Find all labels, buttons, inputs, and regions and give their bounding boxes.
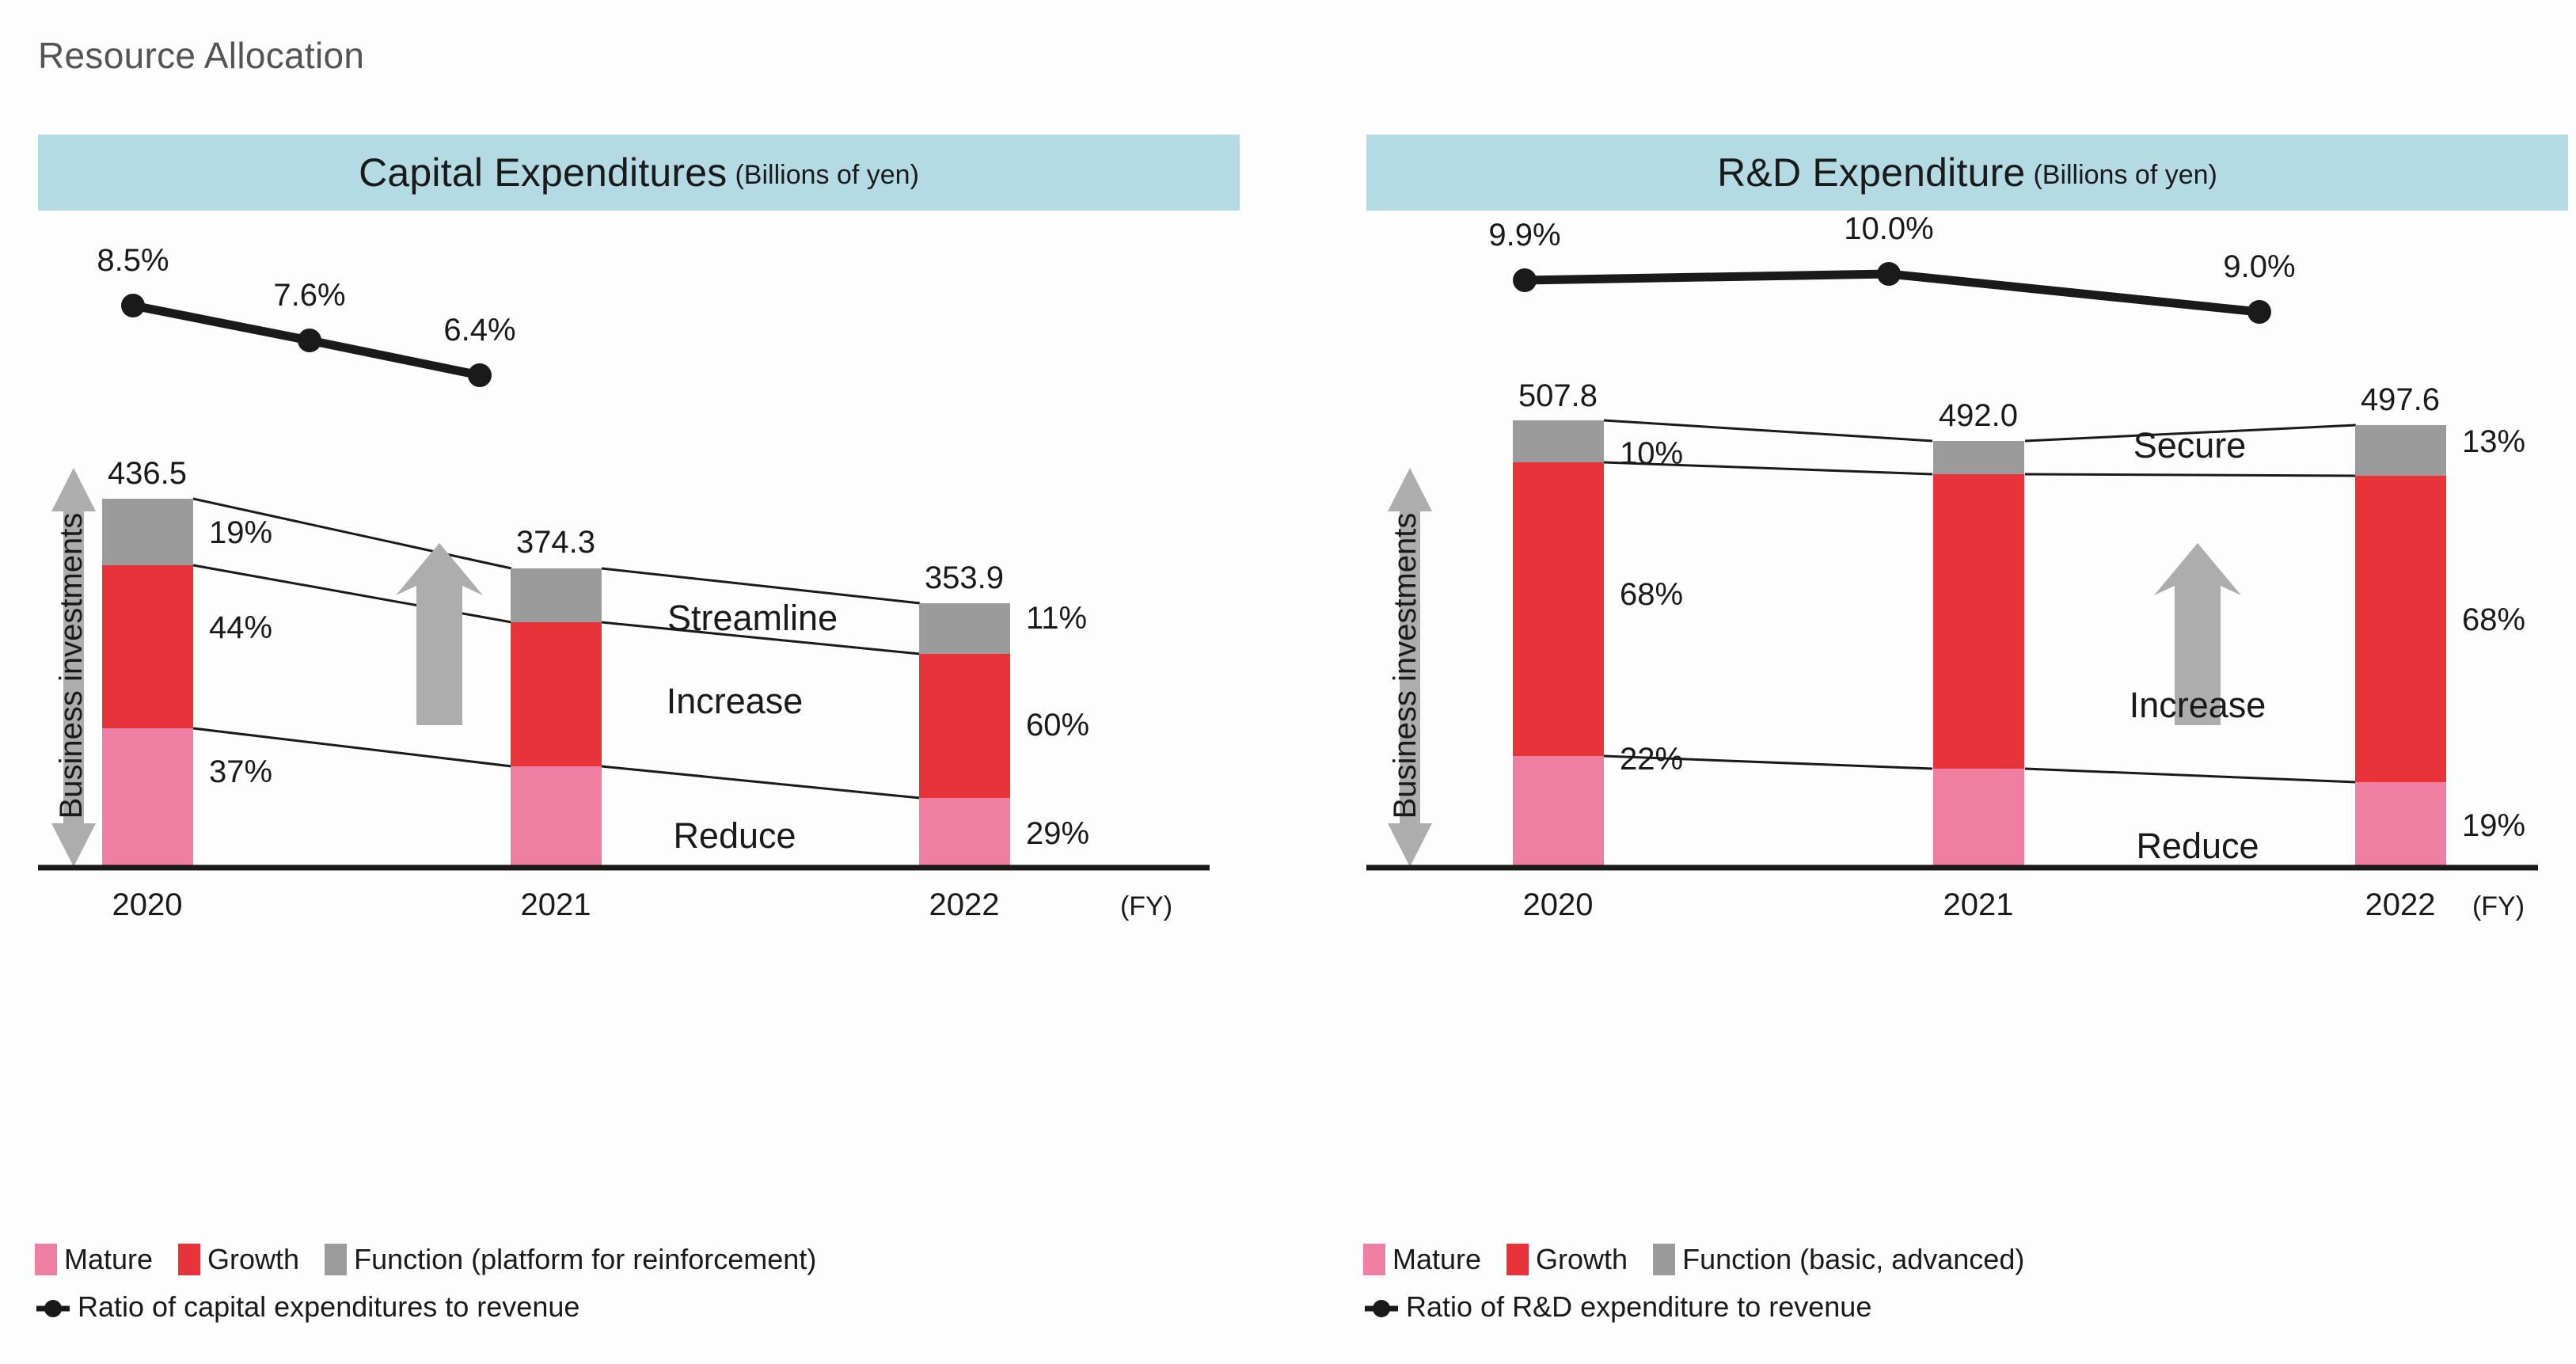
x-axis-unit: (FY) [1120, 891, 1172, 921]
chart-plot-capital-expenditures: 436.5 374.3 353.9 8.5% 7.6% 6.4% 19% 44%… [38, 211, 1240, 1279]
bar-2022 [919, 603, 1010, 867]
bar-2021 [511, 568, 602, 867]
pct-mature-2020: 37% [209, 754, 272, 789]
bar-2022 [2355, 425, 2446, 867]
total-label-2021: 374.3 [516, 525, 595, 560]
chart-title-main: Capital Expenditures [359, 150, 727, 196]
x-tick-2021: 2021 [521, 887, 591, 922]
ratio-label-2021: 7.6% [273, 278, 345, 313]
total-label-2022: 353.9 [925, 560, 1004, 595]
annotation-bottom: Reduce [2136, 826, 2259, 866]
ratio-label-2020: 9.9% [1488, 218, 1560, 253]
legend-label-function: Function (platform for reinforcement) [354, 1243, 816, 1276]
pct-function-2022: 11% [1026, 601, 1087, 636]
legend-swatch-function [1653, 1244, 1675, 1275]
line-marker-icon [1363, 1297, 1400, 1320]
legend-swatch-mature [35, 1244, 57, 1275]
annotation-middle: Increase [667, 681, 804, 721]
legend-row-segments: Mature Growth Function (basic, advanced) [1363, 1243, 2024, 1276]
legend-swatch-mature [1363, 1244, 1385, 1275]
ratio-label-2022: 6.4% [443, 313, 515, 348]
chart-title-main: R&D Expenditure [1717, 150, 2025, 196]
pct-function-2020: 10% [1620, 436, 1683, 471]
chart-panel-rd-expenditure: R&D Expenditure (Billions of yen) [1366, 135, 2568, 1322]
pct-mature-2020: 22% [1620, 742, 1683, 777]
pct-function-2020: 19% [209, 515, 272, 550]
total-label-2021: 492.0 [1939, 398, 2018, 433]
page-title: Resource Allocation [38, 34, 364, 77]
x-tick-2022: 2022 [929, 887, 1000, 922]
annotation-bottom: Reduce [673, 815, 796, 856]
y-axis-label: Business investments [1388, 513, 1423, 819]
legend-swatch-function [325, 1244, 347, 1275]
legend-label-growth: Growth [207, 1243, 299, 1276]
x-tick-2022: 2022 [2365, 887, 2436, 922]
total-label-2022: 497.6 [2361, 382, 2440, 417]
chart-title-units: (Billions of yen) [2033, 160, 2217, 191]
legend-label-ratio-line: Ratio of capital expenditures to revenue [78, 1290, 579, 1324]
total-label-2020: 436.5 [108, 456, 187, 491]
legend-label-mature: Mature [64, 1243, 153, 1276]
ratio-label-2021: 10.0% [1844, 211, 1933, 246]
increase-arrow-icon [204, 450, 483, 725]
legend-label-function: Function (basic, advanced) [1682, 1243, 2024, 1276]
pct-function-2022: 13% [2462, 424, 2525, 459]
ratio-label-2020: 8.5% [97, 243, 169, 278]
bar-2020 [1513, 420, 1604, 867]
pct-mature-2022: 19% [2462, 808, 2525, 843]
chart-panel-capital-expenditures: Capital Expenditures (Billions of yen) [38, 135, 1240, 1322]
chart-title-units: (Billions of yen) [735, 160, 918, 191]
legend-label-growth: Growth [1536, 1243, 1628, 1276]
ratio-label-2022: 9.0% [2223, 249, 2295, 284]
pct-growth-2020: 44% [209, 610, 272, 645]
line-marker-icon [35, 1297, 71, 1320]
legend-row-line: Ratio of R&D expenditure to revenue [1363, 1290, 1871, 1324]
x-tick-2020: 2020 [1523, 887, 1594, 922]
pct-growth-2020: 68% [1620, 577, 1683, 612]
annotation-middle: Increase [2130, 685, 2266, 725]
legend-label-ratio-line: Ratio of R&D expenditure to revenue [1406, 1290, 1871, 1324]
total-label-2020: 507.8 [1518, 378, 1598, 413]
annotation-top: Streamline [667, 598, 838, 638]
y-axis-label: Business investments [54, 513, 89, 819]
legend-row-segments: Mature Growth Function (platform for rei… [35, 1243, 816, 1276]
chart-plot-rd-expenditure: 507.8 492.0 497.6 9.9% 10.0% 9.0% 10% 68… [1366, 211, 2568, 1279]
pct-growth-2022: 68% [2462, 602, 2525, 637]
x-axis-unit: (FY) [2472, 891, 2525, 921]
pct-mature-2022: 29% [1026, 816, 1089, 851]
legend-label-mature: Mature [1392, 1243, 1481, 1276]
chart-header-capital-expenditures: Capital Expenditures (Billions of yen) [38, 135, 1240, 211]
chart-header-rd-expenditure: R&D Expenditure (Billions of yen) [1366, 135, 2568, 211]
bar-2020 [102, 499, 193, 867]
legend-swatch-growth [178, 1244, 200, 1275]
x-tick-2020: 2020 [112, 887, 183, 922]
ratio-line-series [1513, 262, 2271, 324]
annotation-top: Secure [2133, 425, 2247, 465]
bar-2021 [1933, 441, 2024, 867]
pct-growth-2022: 60% [1026, 708, 1089, 743]
legend-swatch-growth [1506, 1244, 1529, 1275]
legend-row-line: Ratio of capital expenditures to revenue [35, 1290, 579, 1324]
x-tick-2021: 2021 [1943, 887, 2014, 922]
